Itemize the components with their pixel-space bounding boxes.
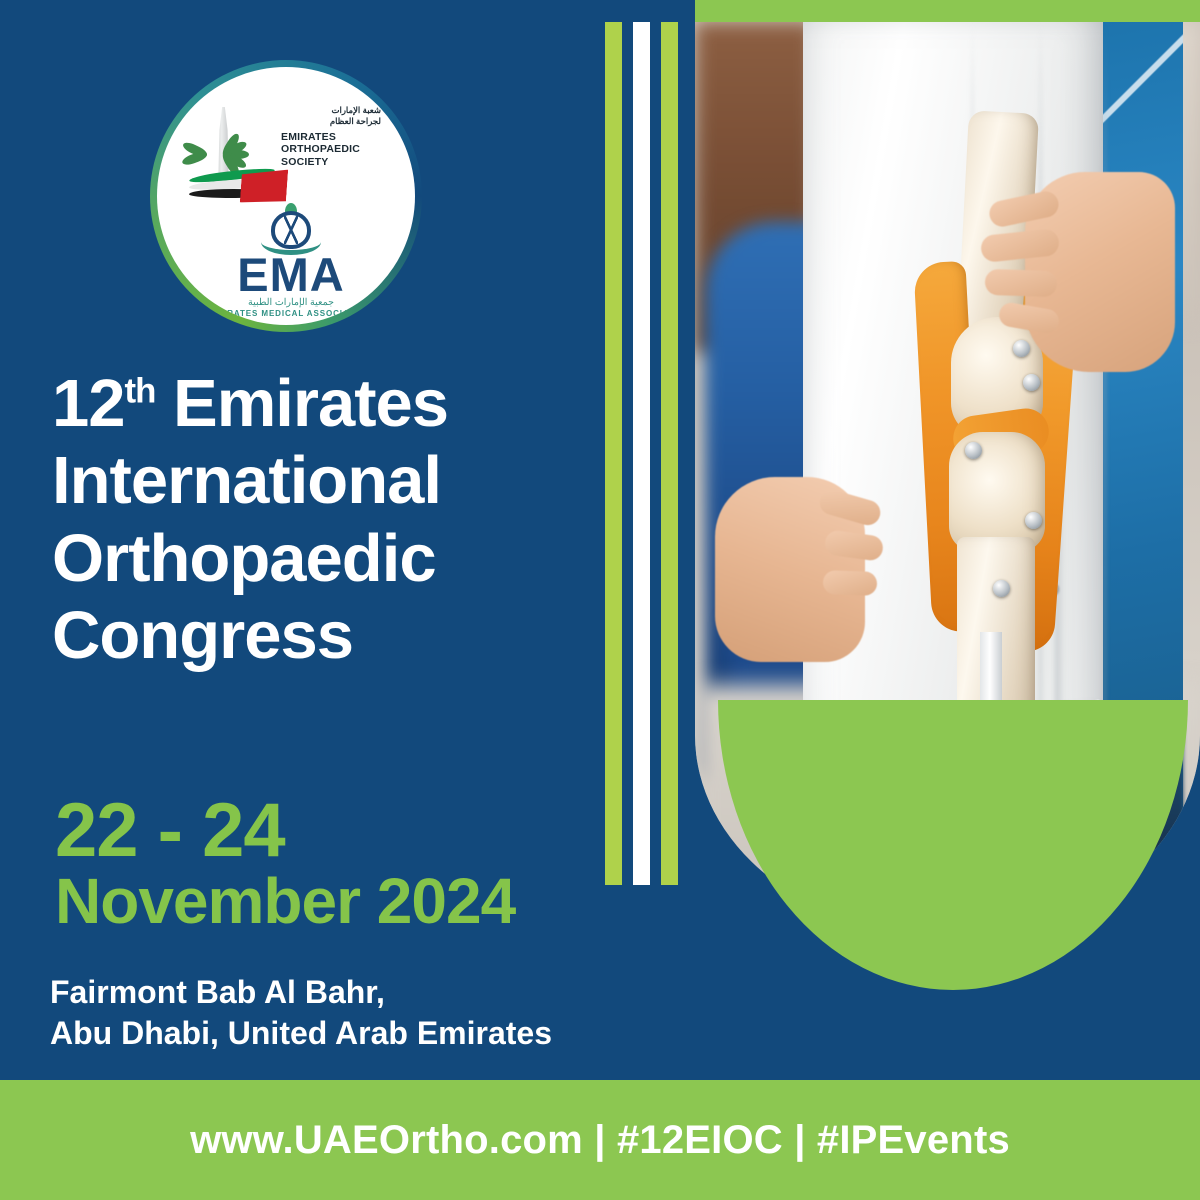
model-screw [993,580,1010,597]
stripe-white-middle [633,22,650,885]
title-line-2: International [52,449,592,513]
society-arabic-line1: شعبة الإمارات [281,105,381,116]
photo-top-green-bar [695,0,1200,22]
doctor-hand-upper [1025,172,1175,372]
event-month-year: November 2024 [55,869,655,934]
stripe-green-right [661,22,678,885]
footer-links-text[interactable]: www.UAEOrtho.com | #12EIOC | #IPEvents [190,1118,1010,1163]
title-ordinal-number: 12 [52,366,125,441]
event-poster: شعبة الإمارات لجراحة العظام EMIRATES ORT… [0,0,1200,1200]
ema-emblem-icon [260,207,322,255]
footer-bar: www.UAEOrtho.com | #12EIOC | #IPEvents [0,1080,1200,1200]
tibial-plateau [949,432,1045,552]
logo-badge: شعبة الإمارات لجراحة العظام EMIRATES ORT… [150,60,422,332]
title-ordinal-suffix: th [125,372,156,411]
stripe-green-left [605,22,622,885]
ema-english-name: EMIRATES MEDICAL ASSOCIATION [191,309,391,318]
green-circle-decoration [718,700,1188,990]
event-days: 22 - 24 [55,795,655,867]
uae-flag-ribbon-icon [189,171,275,203]
doctor-hand-lower [715,477,865,662]
model-screw [965,442,982,459]
title-line-4: Congress [52,604,592,668]
society-english-line3: SOCIETY [281,156,381,168]
venue-line-2: Abu Dhabi, United Arab Emirates [50,1013,670,1054]
society-english-line2: ORTHOPAEDIC [281,143,381,155]
society-arabic-line2: لجراحة العظام [281,116,381,127]
society-english-line1: EMIRATES [281,131,381,143]
model-screw [1023,374,1040,391]
venue-line-1: Fairmont Bab Al Bahr, [50,972,670,1013]
event-dates: 22 - 24 November 2024 [55,795,655,934]
palm-tree-icon [199,138,251,174]
title-line-3: Orthopaedic [52,527,592,591]
emirates-medical-association-logo: EMA جمعية الإمارات الطبية EMIRATES MEDIC… [191,207,391,315]
model-screw [1025,512,1042,529]
swoosh-icon [261,229,321,255]
ema-arabic-name: جمعية الإمارات الطبية [191,297,391,308]
model-screw [1013,340,1030,357]
title-line-1: 12th Emirates [52,372,592,436]
page-title: 12th Emirates International Orthopaedic … [52,372,592,681]
vertical-stripe-group [605,22,685,885]
emirates-orthopaedic-society-logo: شعبة الإمارات لجراحة العظام EMIRATES ORT… [181,105,381,205]
logo-badge-inner: شعبة الإمارات لجراحة العظام EMIRATES ORT… [157,67,415,325]
finger [985,269,1058,297]
event-venue: Fairmont Bab Al Bahr, Abu Dhabi, United … [50,972,670,1054]
finger [823,570,878,596]
society-text-block: شعبة الإمارات لجراحة العظام EMIRATES ORT… [281,105,381,168]
title-line-1-rest: Emirates [155,366,448,441]
ema-wordmark: EMA [191,253,391,296]
